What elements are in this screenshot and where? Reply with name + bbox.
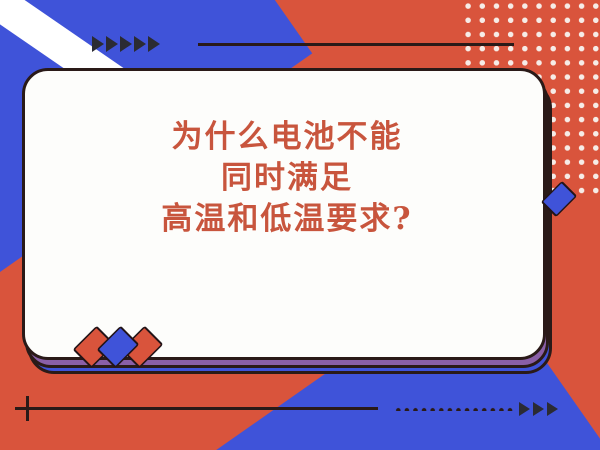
diamond-cluster bbox=[77, 322, 159, 378]
triangle-right-icon bbox=[134, 36, 146, 52]
triangle-right-icon bbox=[148, 36, 160, 52]
headline-line-1: 为什么电池不能 bbox=[25, 117, 549, 158]
triangle-right-icon bbox=[120, 36, 132, 52]
cross-tick-icon bbox=[26, 396, 29, 421]
triangle-right-icon bbox=[92, 36, 104, 52]
arrow-run-top bbox=[92, 36, 162, 52]
triangle-right-icon bbox=[519, 402, 530, 416]
card-stack: 为什么电池不能 同时满足 高温和低温要求? bbox=[22, 68, 552, 374]
triangle-right-icon bbox=[106, 36, 118, 52]
poster-canvas: 为什么电池不能 同时满足 高温和低温要求? bbox=[0, 0, 600, 450]
triangle-right-icon bbox=[547, 402, 558, 416]
arrow-run-bottom bbox=[519, 402, 561, 416]
headline-line-3: 高温和低温要求? bbox=[25, 199, 549, 240]
headline-line-2: 同时满足 bbox=[25, 158, 549, 199]
triangle-right-icon bbox=[533, 402, 544, 416]
horizontal-rule-top bbox=[198, 43, 514, 46]
headline: 为什么电池不能 同时满足 高温和低温要求? bbox=[25, 117, 549, 240]
card-front-white: 为什么电池不能 同时满足 高温和低温要求? bbox=[22, 68, 546, 360]
dotted-lead-line bbox=[394, 406, 516, 411]
horizontal-rule-bottom bbox=[15, 407, 378, 410]
